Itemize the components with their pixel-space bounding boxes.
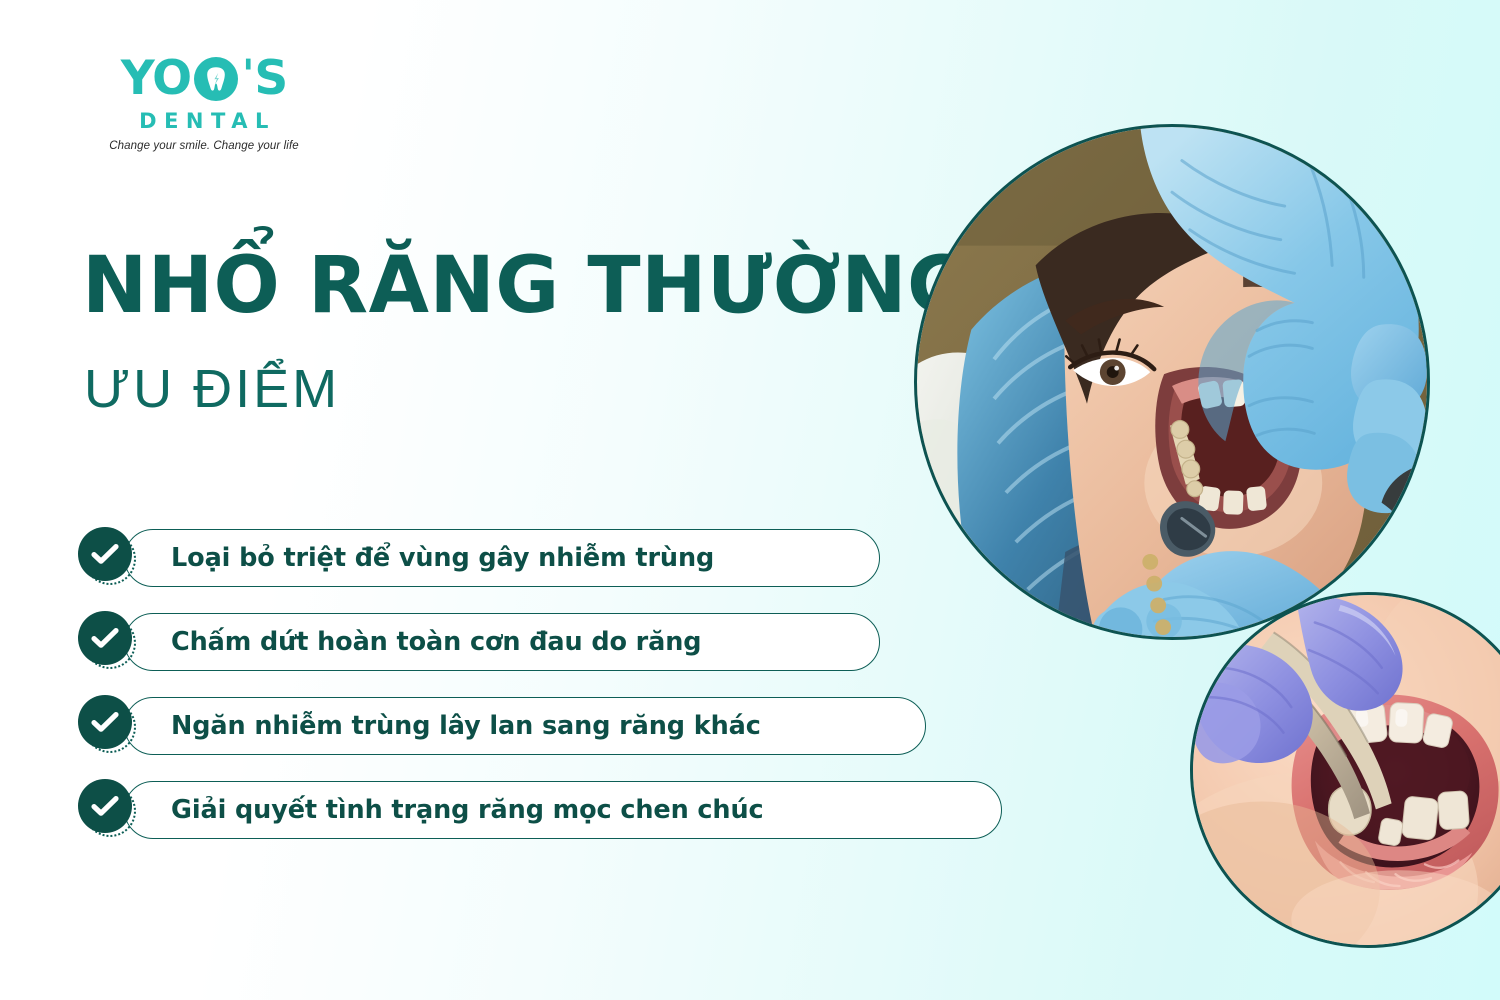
poster-canvas: YO ' S DENTAL Change your smile. Change … <box>0 0 1500 1000</box>
page-subtitle: ƯU ĐIỂM <box>84 362 340 416</box>
check-badge <box>78 779 132 833</box>
logo-apostrophe: ' <box>242 55 254 95</box>
logo-text-yo: YO <box>121 55 191 102</box>
benefits-list: Loại bỏ triệt để vùng gây nhiễm trùng Ch… <box>78 527 1002 863</box>
list-item: Giải quyết tình trạng răng mọc chen chúc <box>78 779 1002 841</box>
benefit-label: Giải quyết tình trạng răng mọc chen chúc <box>171 795 764 825</box>
check-circle-icon <box>78 611 140 673</box>
benefit-label: Ngăn nhiễm trùng lây lan sang răng khác <box>171 711 761 741</box>
logo-wordmark: YO ' S <box>84 55 324 102</box>
benefit-label: Loại bỏ triệt để vùng gây nhiễm trùng <box>171 543 714 573</box>
logo-subtext-dental: DENTAL <box>84 109 324 133</box>
logo-text-s: S <box>254 55 287 102</box>
check-circle-icon <box>78 779 140 841</box>
open-mouth-forceps-closeup-photo <box>1190 592 1500 948</box>
benefit-pill: Loại bỏ triệt để vùng gây nhiễm trùng <box>124 529 880 587</box>
check-badge <box>78 611 132 665</box>
check-badge <box>78 527 132 581</box>
page-title: NHỔ RĂNG THƯỜNG <box>82 247 972 325</box>
benefit-pill: Ngăn nhiễm trùng lây lan sang răng khác <box>124 697 926 755</box>
check-circle-icon <box>78 527 140 589</box>
benefit-pill: Giải quyết tình trạng răng mọc chen chúc <box>124 781 1002 839</box>
brand-logo: YO ' S DENTAL Change your smile. Change … <box>84 55 324 152</box>
list-item: Ngăn nhiễm trùng lây lan sang răng khác <box>78 695 1002 757</box>
check-circle-icon <box>78 695 140 757</box>
logo-tagline: Change your smile. Change your life <box>84 140 324 152</box>
dental-extraction-patient-photo <box>914 124 1430 640</box>
check-badge <box>78 695 132 749</box>
benefit-pill: Chấm dứt hoàn toàn cơn đau do răng <box>124 613 880 671</box>
tooth-icon <box>194 57 238 101</box>
list-item: Loại bỏ triệt để vùng gây nhiễm trùng <box>78 527 1002 589</box>
benefit-label: Chấm dứt hoàn toàn cơn đau do răng <box>171 627 701 657</box>
list-item: Chấm dứt hoàn toàn cơn đau do răng <box>78 611 1002 673</box>
